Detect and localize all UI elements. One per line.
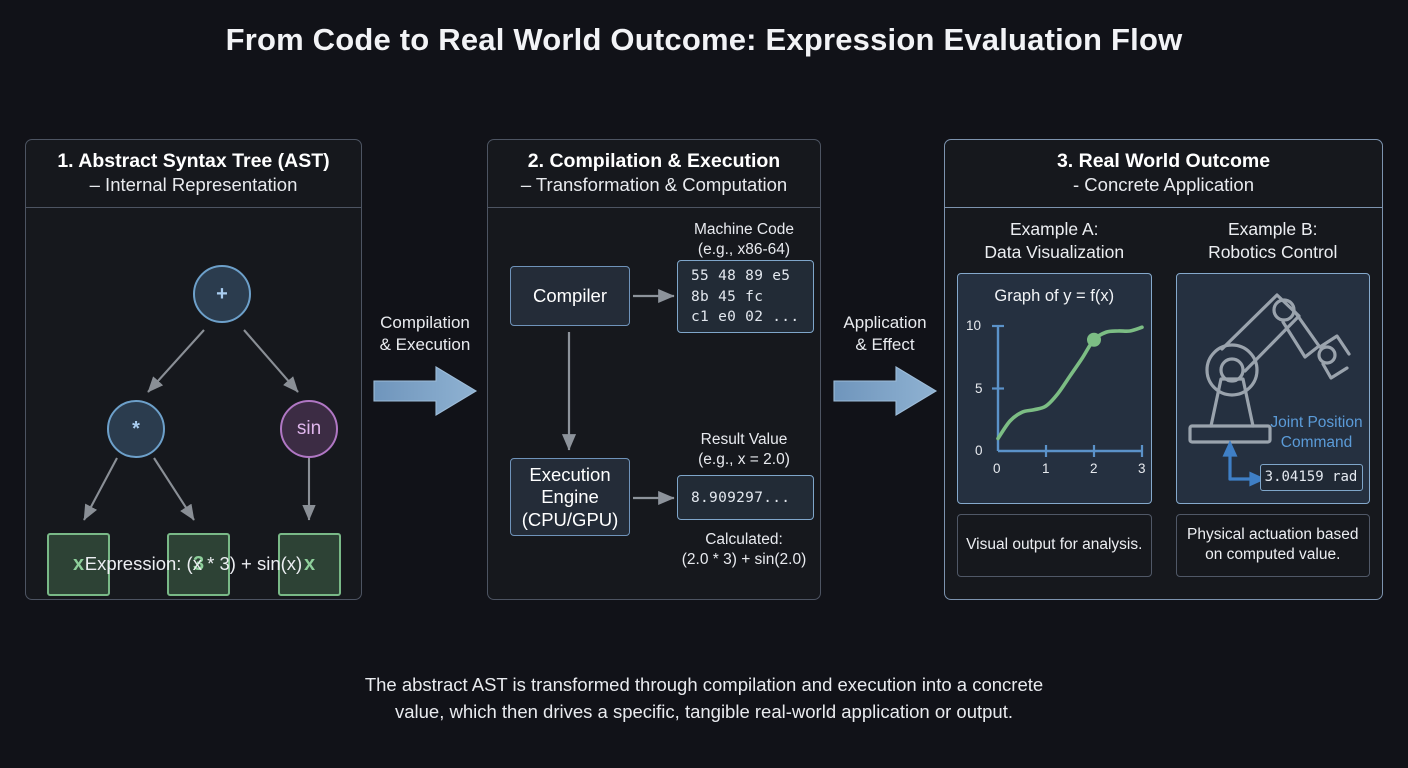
machine-code-box[interactable]: 55 48 89 e5 8b 45 fc c1 e0 02 ...: [677, 260, 814, 333]
joint-label-line2: Command: [1265, 433, 1369, 453]
example-a-title-line2: Data Visualization: [957, 241, 1152, 264]
panel2-body: Machine Code (e.g., x86-64) Compiler 55 …: [488, 208, 820, 598]
y-tick-0: 0: [975, 443, 983, 458]
footer-line1: The abstract AST is transformed through …: [0, 672, 1408, 699]
panel1-heading-line1: 1. Abstract Syntax Tree (AST): [32, 149, 355, 173]
example-a-caption: Visual output for analysis.: [957, 514, 1152, 577]
result-label-line2: (e.g., x = 2.0): [674, 450, 814, 470]
example-b-title-line1: Example B:: [1176, 218, 1371, 241]
machine-code-label: Machine Code (e.g., x86-64): [674, 220, 814, 260]
flow2-line1: Application: [824, 312, 946, 334]
flow2-line2: & Effect: [824, 334, 946, 356]
panel3-heading-line1: 3. Real World Outcome: [951, 149, 1376, 173]
y-tick-5: 5: [975, 381, 983, 396]
execution-engine-box[interactable]: Execution Engine (CPU/GPU): [510, 458, 630, 536]
compiler-box[interactable]: Compiler: [510, 266, 630, 326]
panel1-header: 1. Abstract Syntax Tree (AST) – Internal…: [26, 140, 361, 208]
panel3-body: Example A: Data Visualization Graph of y…: [945, 208, 1382, 598]
panel2-heading-line2: – Transformation & Computation: [494, 173, 814, 197]
calculated-label: Calculated: (2.0 * 3) + sin(2.0): [668, 530, 820, 570]
panel-real-world-outcome: 3. Real World Outcome - Concrete Applica…: [944, 139, 1383, 600]
ast-edges: [26, 208, 363, 576]
flow-application-effect: Application & Effect: [824, 312, 946, 422]
example-b-caption: Physical actuation based on computed val…: [1176, 514, 1371, 577]
panel-abstract-syntax-tree: 1. Abstract Syntax Tree (AST) – Internal…: [25, 139, 362, 600]
arrow-right-icon-2: [824, 365, 946, 422]
execution-box-line3: (CPU/GPU): [522, 509, 619, 532]
flow1-line2: & Execution: [364, 334, 486, 356]
panel3-heading-line2: - Concrete Application: [951, 173, 1376, 197]
panel3-header: 3. Real World Outcome - Concrete Applica…: [945, 140, 1382, 208]
machine-code-label-line2: (e.g., x86-64): [674, 240, 814, 260]
panel2-header: 2. Compilation & Execution – Transformat…: [488, 140, 820, 208]
example-b-caption-line2: on computed value.: [1187, 545, 1358, 565]
flow1-line1: Compilation: [364, 312, 486, 334]
result-value-label: Result Value (e.g., x = 2.0): [674, 430, 814, 470]
x-tick-0: 0: [993, 461, 1001, 476]
calculated-label-line1: Calculated:: [668, 530, 820, 550]
result-value-box[interactable]: 8.909297...: [677, 475, 814, 520]
example-b-title: Example B: Robotics Control: [1176, 218, 1371, 264]
example-a-title: Example A: Data Visualization: [957, 218, 1152, 264]
example-b-section: Example B: Robotics Control: [1164, 208, 1383, 598]
chart-title: Graph of y = f(x): [958, 287, 1151, 306]
execution-box-line2: Engine: [522, 486, 619, 509]
example-b-title-line2: Robotics Control: [1176, 241, 1371, 264]
footer-line2: value, which then drives a specific, tan…: [0, 699, 1408, 726]
diagram-canvas: From Code to Real World Outcome: Express…: [0, 0, 1408, 768]
result-label-line1: Result Value: [674, 430, 814, 450]
machine-code-line-2: 8b 45 fc: [691, 287, 799, 308]
x-tick-2: 2: [1090, 461, 1098, 476]
footer-caption: The abstract AST is transformed through …: [0, 672, 1408, 726]
panel1-heading-line2: – Internal Representation: [32, 173, 355, 197]
robotics-control-card[interactable]: Joint Position Command 3.04159 rad: [1176, 273, 1371, 504]
data-visualization-card[interactable]: Graph of y = f(x): [957, 273, 1152, 504]
x-tick-3: 3: [1138, 461, 1146, 476]
expression-label: Expression: (x * 3) + sin(x): [26, 553, 361, 575]
page-title: From Code to Real World Outcome: Express…: [0, 22, 1408, 58]
example-a-section: Example A: Data Visualization Graph of y…: [945, 208, 1164, 598]
machine-code-line-1: 55 48 89 e5: [691, 266, 799, 287]
joint-value-box[interactable]: 3.04159 rad: [1260, 464, 1363, 491]
joint-label-line1: Joint Position: [1265, 413, 1369, 433]
line-chart: [958, 312, 1154, 502]
arrow-right-icon-1: [364, 365, 486, 422]
example-b-caption-line1: Physical actuation based: [1187, 525, 1358, 545]
panel-compilation-execution: 2. Compilation & Execution – Transformat…: [487, 139, 821, 600]
machine-code-label-line1: Machine Code: [674, 220, 814, 240]
ast-diagram: + * sin x 3 x: [26, 208, 361, 576]
flow-compilation-execution: Compilation & Execution: [364, 312, 486, 422]
panel2-heading-line1: 2. Compilation & Execution: [494, 149, 814, 173]
execution-box-line1: Execution: [522, 464, 619, 487]
example-a-title-line1: Example A:: [957, 218, 1152, 241]
y-tick-10: 10: [966, 318, 981, 333]
machine-code-line-3: c1 e0 02 ...: [691, 307, 799, 328]
x-tick-1: 1: [1042, 461, 1050, 476]
joint-position-command-label: Joint Position Command: [1265, 413, 1369, 453]
calculated-label-line2: (2.0 * 3) + sin(2.0): [668, 550, 820, 570]
